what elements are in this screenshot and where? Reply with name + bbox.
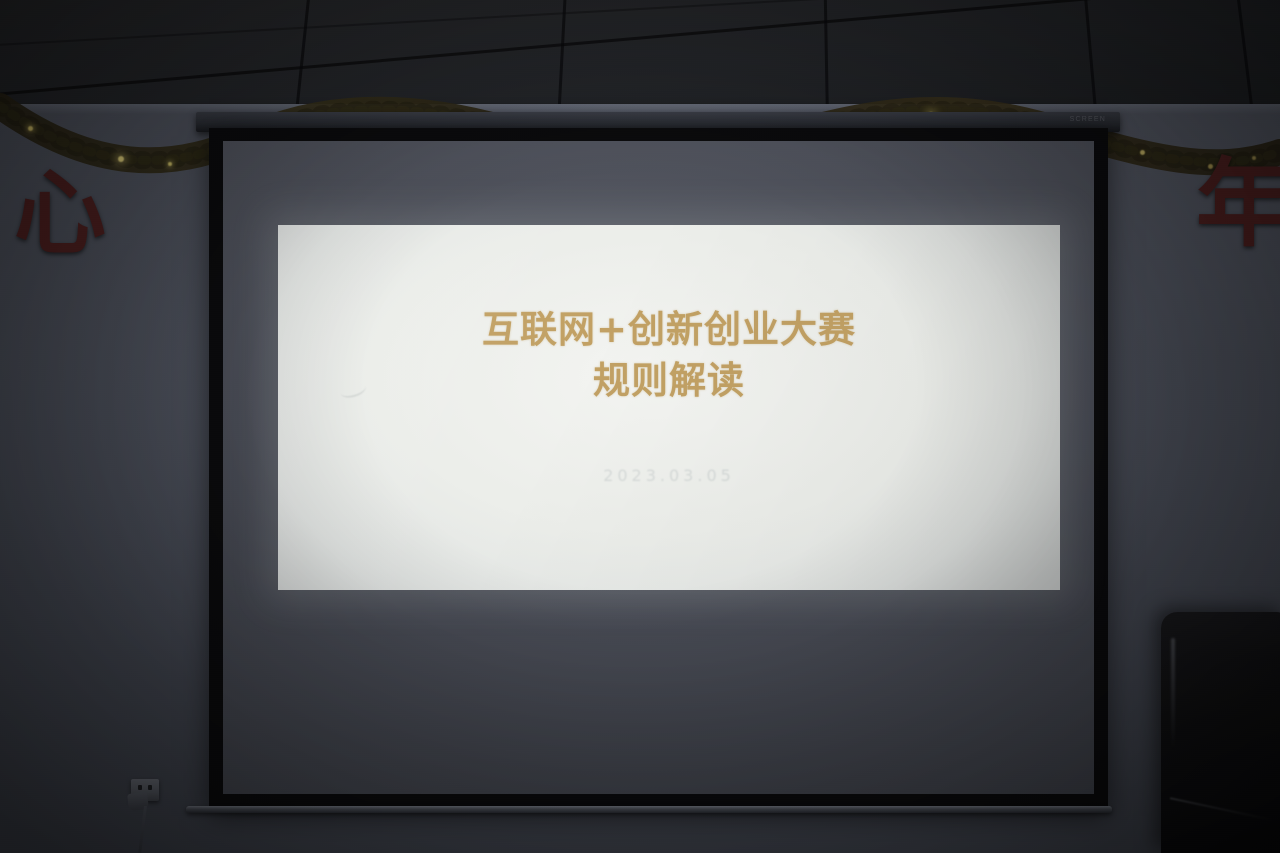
slide-subtitle-date: 2023.03.05 — [603, 466, 735, 485]
room-scene: 心 年 SCREEN 互联网+创新创业大赛 规则解读 2023.03.05 — [0, 0, 1280, 853]
outlet-socket-hole — [138, 785, 142, 790]
wall-decor-character-left: 心 — [14, 168, 106, 260]
projection-screen-weight-bar — [186, 806, 1112, 813]
outlet-socket-hole — [148, 785, 152, 790]
chair-seam — [1170, 797, 1272, 821]
screen-brand-label: SCREEN — [1070, 116, 1106, 123]
projected-slide: 互联网+创新创业大赛 规则解读 2023.03.05 — [278, 225, 1060, 590]
chair-leather-highlight — [1171, 638, 1175, 750]
slide-title: 互联网+创新创业大赛 规则解读 — [482, 304, 856, 406]
wall-decor-character-right: 年 — [1196, 156, 1280, 252]
office-chair-backrest[interactable] — [1161, 612, 1280, 853]
